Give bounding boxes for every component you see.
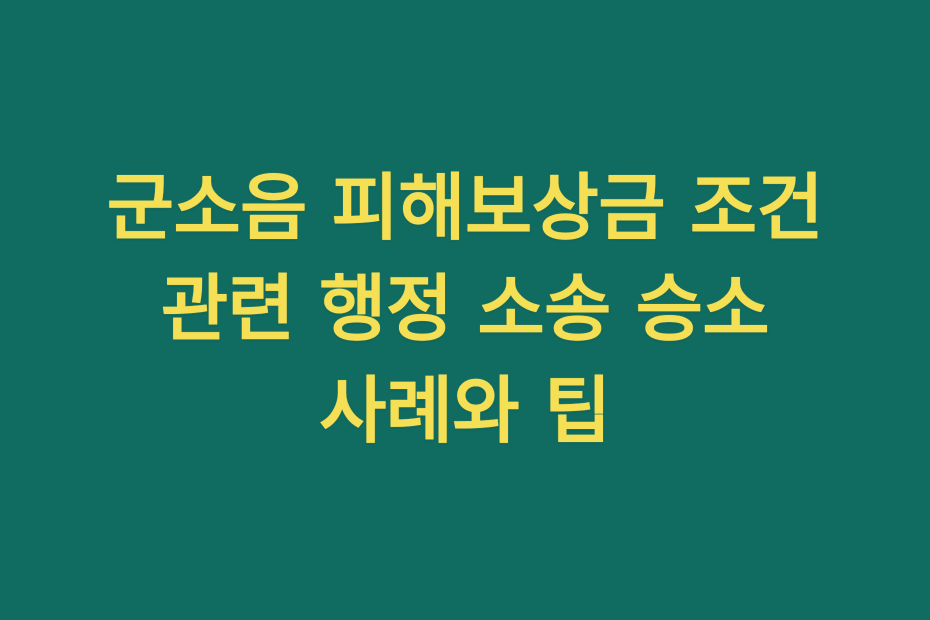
title-card: 군소음 피해보상금 조건 관련 행정 소송 승소 사례와 팁 xyxy=(0,0,930,620)
title-block: 군소음 피해보상금 조건 관련 행정 소송 승소 사례와 팁 xyxy=(65,158,865,462)
page-title: 군소음 피해보상금 조건 관련 행정 소송 승소 사례와 팁 xyxy=(75,158,855,462)
